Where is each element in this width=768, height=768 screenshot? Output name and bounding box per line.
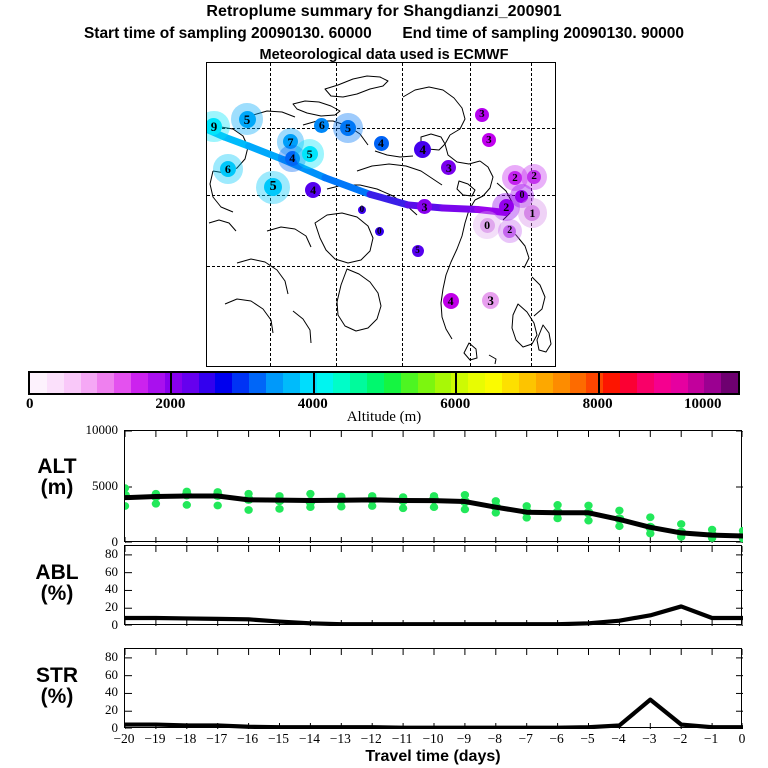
colorbar-segment	[350, 373, 367, 393]
colorbar-segment	[165, 373, 182, 393]
colorbar-segment	[333, 373, 350, 393]
y-axis-tick-label: 60	[60, 564, 118, 580]
colorbar-segment	[418, 373, 435, 393]
colorbar-segment	[553, 373, 570, 393]
alt-label-text: ALT	[8, 456, 106, 477]
start-time-label: Start time of sampling 20090130. 60000	[84, 25, 372, 42]
alt-scatter-point	[275, 505, 283, 513]
map-cluster-marker[interactable]: 5	[302, 146, 318, 162]
colorbar-segment	[536, 373, 553, 393]
colorbar-segment	[266, 373, 283, 393]
colorbar-segment	[114, 373, 131, 393]
map-cluster-marker[interactable]: 3	[475, 108, 489, 122]
x-axis-tick-label: −16	[237, 731, 258, 747]
map-cluster-marker[interactable]: 0	[358, 206, 366, 214]
colorbar-segment	[721, 373, 738, 393]
map-cluster-marker[interactable]: 4	[443, 293, 459, 309]
retroplume-map[interactable]: 9574565465443300533220210243	[206, 62, 556, 367]
colorbar-divider	[313, 371, 315, 395]
colorbar-segment	[485, 373, 502, 393]
colorbar-segment	[704, 373, 721, 393]
alt-scatter-point	[125, 502, 129, 510]
str-plot-panel[interactable]	[124, 648, 742, 728]
alt-scatter-point	[615, 507, 623, 515]
map-cluster-marker[interactable]: 5	[412, 245, 424, 257]
map-cluster-marker[interactable]: 6	[314, 118, 329, 133]
colorbar-segment	[401, 373, 418, 393]
colorbar-segment	[148, 373, 165, 393]
y-axis-tick-label: 60	[60, 667, 118, 683]
x-axis-tick-label: 0	[739, 731, 746, 747]
x-axis-tick-label: −19	[144, 731, 165, 747]
colorbar-segment	[232, 373, 249, 393]
alt-series-svg	[125, 431, 743, 543]
colorbar-segment	[47, 373, 64, 393]
map-cluster-marker[interactable]: 0	[480, 218, 495, 233]
str-series-svg	[125, 649, 743, 729]
alt-scatter-point	[708, 526, 716, 534]
y-axis-tick-label: 80	[60, 649, 118, 665]
colorbar-segment	[81, 373, 98, 393]
page-title: Retroplume summary for Shangdianzi_20090…	[0, 3, 768, 21]
colorbar-segment	[283, 373, 300, 393]
colorbar-segment	[182, 373, 199, 393]
map-cluster-marker[interactable]: 6	[220, 161, 236, 177]
colorbar-segment	[367, 373, 384, 393]
alt-scatter-point	[430, 503, 438, 511]
map-cluster-marker[interactable]: 5	[239, 111, 256, 128]
y-axis-tick-label: 20	[60, 702, 118, 718]
x-axis-title: Travel time (days)	[124, 748, 742, 766]
map-cluster-marker[interactable]: 0	[375, 227, 384, 236]
y-axis-tick-label: 10000	[60, 422, 118, 438]
x-axis-tick-label: −11	[392, 731, 413, 747]
colorbar-segment	[519, 373, 536, 393]
x-axis-tick-label: −13	[330, 731, 351, 747]
alt-scatter-point	[306, 490, 314, 498]
alt-scatter-point	[183, 501, 191, 509]
colorbar-segment	[654, 373, 671, 393]
colorbar-segment	[671, 373, 688, 393]
x-axis-tick-label: −2	[673, 731, 687, 747]
x-axis-tick-label: −17	[206, 731, 227, 747]
colorbar-segment	[215, 373, 232, 393]
y-axis-tick-label: 0	[60, 617, 118, 633]
y-axis-tick-label: 5000	[60, 478, 118, 494]
colorbar-segment	[64, 373, 81, 393]
colorbar-segment	[451, 373, 468, 393]
colorbar-divider	[170, 371, 172, 395]
colorbar-segment	[586, 373, 603, 393]
x-axis-tick-label: −20	[113, 731, 134, 747]
alt-scatter-point	[244, 490, 252, 498]
altitude-colorbar[interactable]	[28, 371, 740, 395]
alt-scatter-point	[553, 501, 561, 509]
alt-scatter-point	[584, 517, 592, 525]
x-axis-tick-label: −8	[488, 731, 502, 747]
alt-scatter-point	[214, 502, 222, 510]
colorbar-segment	[384, 373, 401, 393]
map-cluster-marker[interactable]: 4	[374, 136, 389, 151]
y-axis-tick-label: 20	[60, 599, 118, 615]
abl-plot-panel[interactable]	[124, 545, 742, 625]
end-time-label: End time of sampling 20090130. 90000	[402, 25, 684, 42]
x-axis-tick-label: −7	[519, 731, 533, 747]
y-axis-tick-label: 40	[60, 581, 118, 597]
map-cluster-marker[interactable]: 4	[414, 141, 431, 158]
y-axis-tick-label: 40	[60, 684, 118, 700]
map-cluster-marker[interactable]: 2	[503, 225, 516, 238]
colorbar-segment	[30, 373, 47, 393]
alt-scatter-point	[523, 502, 531, 510]
x-axis-tick-label: −14	[299, 731, 320, 747]
colorbar-segment	[637, 373, 654, 393]
colorbar-segment	[688, 373, 705, 393]
sampling-time-line: Start time of sampling 20090130. 60000 E…	[0, 25, 768, 43]
abl-series-svg	[125, 546, 743, 626]
map-cluster-marker[interactable]: 2	[527, 170, 541, 184]
alt-scatter-point	[125, 484, 129, 492]
y-axis-tick-label: 0	[60, 720, 118, 736]
x-axis-tick-label: −3	[642, 731, 656, 747]
alt-scatter-point	[677, 520, 685, 528]
x-axis-tick-label: −9	[457, 731, 471, 747]
colorbar-segment	[603, 373, 620, 393]
met-data-label: Meteorological data used is ECMWF	[0, 47, 768, 63]
colorbar-divider	[598, 371, 600, 395]
y-axis-tick-label: 80	[60, 546, 118, 562]
alt-scatter-point	[584, 502, 592, 510]
x-axis-tick-label: −18	[175, 731, 196, 747]
alt-scatter-point	[646, 513, 654, 521]
colorbar-segment	[620, 373, 637, 393]
colorbar-segment	[468, 373, 485, 393]
map-cluster-marker[interactable]: 5	[340, 120, 356, 136]
x-axis-tick-label: −5	[580, 731, 594, 747]
alt-scatter-point	[399, 504, 407, 512]
x-axis-tick-label: −12	[361, 731, 382, 747]
colorbar-segment	[97, 373, 114, 393]
alt-plot-panel[interactable]	[124, 430, 742, 542]
colorbar-segment	[131, 373, 148, 393]
colorbar-segment	[249, 373, 266, 393]
colorbar-segment	[570, 373, 587, 393]
colorbar-segment	[502, 373, 519, 393]
alt-scatter-point	[492, 497, 500, 505]
alt-scatter-point	[244, 506, 252, 514]
colorbar-segment	[435, 373, 452, 393]
x-axis-tick-label: −15	[268, 731, 289, 747]
map-cluster-marker[interactable]: 2	[508, 171, 522, 185]
colorbar-segment	[317, 373, 334, 393]
colorbar-divider	[455, 371, 457, 395]
alt-scatter-point	[461, 506, 469, 514]
x-axis-tick-label: −10	[422, 731, 443, 747]
x-axis-tick-label: −4	[611, 731, 625, 747]
alt-scatter-point	[461, 491, 469, 499]
x-axis-tick-label: −1	[704, 731, 718, 747]
colorbar-segment	[199, 373, 216, 393]
x-axis-tick-label: −6	[549, 731, 563, 747]
